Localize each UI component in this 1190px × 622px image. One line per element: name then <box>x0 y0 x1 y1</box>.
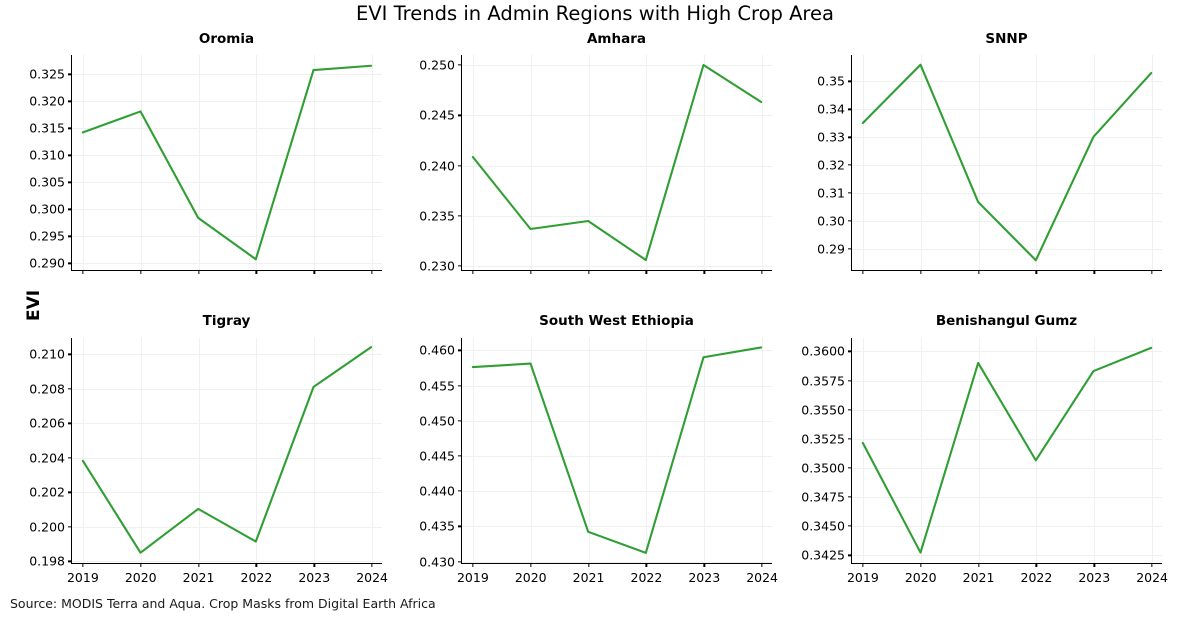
y-tick-label: 0.290 <box>29 256 65 271</box>
y-tick-label: 0.3600 <box>801 344 845 359</box>
plot-area: 0.1980.2000.2020.2040.2060.2080.21020192… <box>71 338 382 564</box>
x-tick-mark <box>82 270 83 274</box>
x-tick-mark <box>978 270 979 274</box>
x-tick-label: 2024 <box>746 570 778 585</box>
x-tick-mark <box>588 270 589 274</box>
x-tick-mark <box>920 563 921 567</box>
x-tick-mark <box>1151 270 1152 274</box>
x-tick-mark <box>140 270 141 274</box>
figure-canvas: EVI Trends in Admin Regions with High Cr… <box>0 0 1190 622</box>
x-tick-label: 2023 <box>1078 570 1110 585</box>
x-tick-mark <box>920 270 921 274</box>
y-tick-label: 0.32 <box>817 158 845 173</box>
x-tick-mark <box>588 563 589 567</box>
y-tick-label: 0.455 <box>419 378 455 393</box>
evi-series-line <box>462 55 772 270</box>
plot-inner: 0.2900.2950.3000.3050.3100.3150.3200.325 <box>72 55 382 270</box>
x-tick-mark <box>198 563 199 567</box>
y-tick-label: 0.35 <box>817 74 845 89</box>
subplot-title: Tigray <box>71 313 382 330</box>
x-tick-label: 2020 <box>515 570 547 585</box>
evi-series-line <box>462 338 772 563</box>
source-caption: Source: MODIS Terra and Aqua. Crop Masks… <box>10 596 436 611</box>
plot-inner: 0.34250.34500.34750.35000.35250.35500.35… <box>852 338 1162 563</box>
x-tick-label: 2023 <box>688 570 720 585</box>
y-tick-label: 0.245 <box>419 108 455 123</box>
series-polyline <box>83 347 371 553</box>
series-polyline <box>863 65 1151 261</box>
y-tick-label: 0.445 <box>419 448 455 463</box>
y-tick-label: 0.230 <box>419 258 455 273</box>
subplot-south-west-ethiopia: South West Ethiopia0.4300.4350.4400.4450… <box>461 313 772 604</box>
x-tick-label: 2024 <box>1136 570 1168 585</box>
shared-y-axis-label: EVI <box>14 285 54 325</box>
y-tick-label: 0.300 <box>29 202 65 217</box>
x-tick-mark <box>704 563 705 567</box>
y-tick-label: 0.206 <box>29 416 65 431</box>
figure-title: EVI Trends in Admin Regions with High Cr… <box>0 0 1190 28</box>
y-tick-label: 0.30 <box>817 213 845 228</box>
plot-area: 0.2900.2950.3000.3050.3100.3150.3200.325 <box>71 55 382 271</box>
x-tick-mark <box>472 563 473 567</box>
x-tick-label: 2021 <box>183 570 215 585</box>
y-tick-label: 0.202 <box>29 485 65 500</box>
y-tick-label: 0.320 <box>29 94 65 109</box>
x-tick-mark <box>314 270 315 274</box>
subplot-title: Amhara <box>461 31 772 48</box>
subplot-oromia: Oromia0.2900.2950.3000.3050.3100.3150.32… <box>71 31 382 311</box>
x-tick-mark <box>140 563 141 567</box>
plot-inner: 0.290.300.310.320.330.340.35 <box>852 55 1162 270</box>
x-tick-mark <box>1094 270 1095 274</box>
y-tick-label: 0.310 <box>29 148 65 163</box>
plot-inner: 0.2300.2350.2400.2450.250 <box>462 55 772 270</box>
x-tick-label: 2023 <box>298 570 330 585</box>
x-tick-mark <box>978 563 979 567</box>
subplot-tigray: Tigray0.1980.2000.2020.2040.2060.2080.21… <box>71 313 382 604</box>
x-tick-label: 2024 <box>356 570 388 585</box>
plot-area: 0.2300.2350.2400.2450.250 <box>461 55 772 271</box>
y-tick-label: 0.250 <box>419 58 455 73</box>
plot-inner: 0.4300.4350.4400.4450.4500.4550.46020192… <box>462 338 772 563</box>
evi-series-line <box>852 338 1162 563</box>
plot-inner: 0.1980.2000.2020.2040.2060.2080.21020192… <box>72 338 382 563</box>
y-tick-label: 0.34 <box>817 102 845 117</box>
x-tick-label: 2022 <box>241 570 273 585</box>
evi-series-line <box>72 55 382 270</box>
y-tick-label: 0.33 <box>817 130 845 145</box>
y-tick-label: 0.295 <box>29 229 65 244</box>
y-tick-label: 0.440 <box>419 484 455 499</box>
x-tick-mark <box>256 270 257 274</box>
y-tick-label: 0.29 <box>817 241 845 256</box>
x-tick-mark <box>1036 563 1037 567</box>
x-tick-label: 2021 <box>963 570 995 585</box>
x-tick-mark <box>761 270 762 274</box>
evi-series-line <box>72 338 382 563</box>
x-tick-label: 2020 <box>905 570 937 585</box>
plot-area: 0.4300.4350.4400.4450.4500.4550.46020192… <box>461 338 772 564</box>
x-tick-label: 2022 <box>1021 570 1053 585</box>
y-tick-label: 0.3550 <box>801 402 845 417</box>
x-tick-label: 2019 <box>847 570 879 585</box>
x-tick-mark <box>646 563 647 567</box>
y-tick-label: 0.430 <box>419 554 455 569</box>
x-tick-mark <box>198 270 199 274</box>
y-tick-label: 0.3450 <box>801 519 845 534</box>
y-tick-label: 0.325 <box>29 67 65 82</box>
y-tick-label: 0.3575 <box>801 373 845 388</box>
series-polyline <box>473 65 761 260</box>
x-tick-mark <box>646 270 647 274</box>
x-tick-mark <box>256 563 257 567</box>
y-tick-label: 0.235 <box>419 208 455 223</box>
y-tick-label: 0.3500 <box>801 460 845 475</box>
x-tick-mark <box>314 563 315 567</box>
series-polyline <box>83 66 371 260</box>
subplot-snnp: SNNP0.290.300.310.320.330.340.35 <box>851 31 1162 311</box>
y-tick-label: 0.200 <box>29 519 65 534</box>
y-tick-label: 0.3525 <box>801 431 845 446</box>
series-polyline <box>863 348 1151 553</box>
plot-area: 0.290.300.310.320.330.340.35 <box>851 55 1162 271</box>
y-tick-label: 0.305 <box>29 175 65 190</box>
y-tick-label: 0.210 <box>29 347 65 362</box>
y-tick-label: 0.204 <box>29 450 65 465</box>
y-tick-label: 0.435 <box>419 519 455 534</box>
x-tick-mark <box>704 270 705 274</box>
x-tick-label: 2021 <box>573 570 605 585</box>
y-tick-label: 0.3425 <box>801 548 845 563</box>
y-tick-label: 0.3475 <box>801 490 845 505</box>
subplot-benishangul-gumz: Benishangul Gumz0.34250.34500.34750.3500… <box>851 313 1162 604</box>
x-tick-mark <box>530 270 531 274</box>
x-tick-mark <box>862 563 863 567</box>
evi-series-line <box>852 55 1162 270</box>
x-tick-mark <box>1151 563 1152 567</box>
subplot-title: South West Ethiopia <box>461 313 772 330</box>
y-tick-label: 0.460 <box>419 343 455 358</box>
x-tick-label: 2022 <box>631 570 663 585</box>
series-polyline <box>473 347 761 552</box>
x-tick-mark <box>862 270 863 274</box>
subplot-amhara: Amhara0.2300.2350.2400.2450.250 <box>461 31 772 311</box>
x-tick-label: 2019 <box>67 570 99 585</box>
subplot-title: SNNP <box>851 31 1162 48</box>
y-tick-label: 0.31 <box>817 185 845 200</box>
subplot-title: Oromia <box>71 31 382 48</box>
y-tick-label: 0.450 <box>419 413 455 428</box>
x-tick-mark <box>1094 563 1095 567</box>
y-tick-label: 0.198 <box>29 554 65 569</box>
x-tick-mark <box>472 270 473 274</box>
x-tick-mark <box>1036 270 1037 274</box>
subplot-title: Benishangul Gumz <box>851 313 1162 330</box>
x-tick-label: 2020 <box>125 570 157 585</box>
x-tick-label: 2019 <box>457 570 489 585</box>
y-tick-label: 0.208 <box>29 381 65 396</box>
x-tick-mark <box>530 563 531 567</box>
x-tick-mark <box>82 563 83 567</box>
y-tick-label: 0.240 <box>419 158 455 173</box>
x-tick-mark <box>761 563 762 567</box>
y-tick-label: 0.315 <box>29 121 65 136</box>
x-tick-mark <box>371 270 372 274</box>
plot-area: 0.34250.34500.34750.35000.35250.35500.35… <box>851 338 1162 564</box>
x-tick-mark <box>371 563 372 567</box>
